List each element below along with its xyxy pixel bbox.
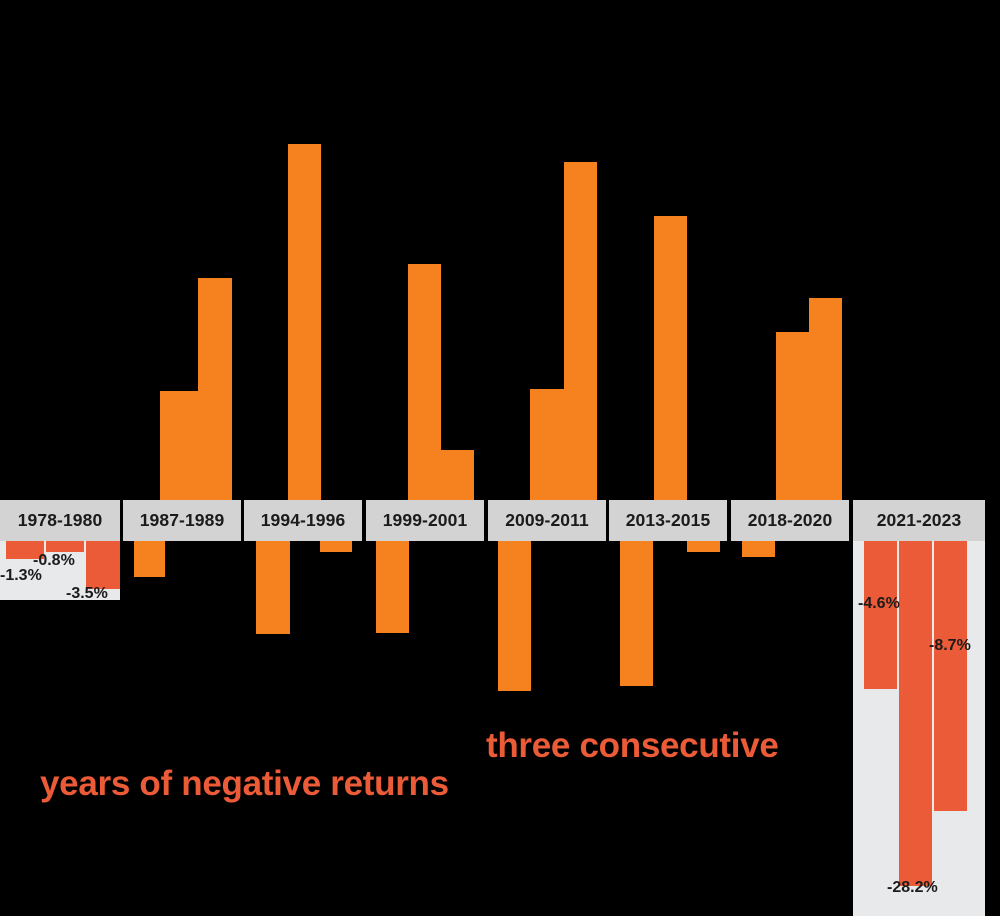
group-label-2013-2015: 2013-2015 [609, 500, 727, 541]
group-label-2021-2023: 2021-2023 [853, 500, 985, 541]
bar-2009-2011-1 [498, 541, 531, 691]
group-label-1987-1989: 1987-1989 [123, 500, 241, 541]
bar-2013-2015-1 [620, 541, 653, 686]
bar-2018-2020-1 [742, 541, 775, 557]
bar-2021-2023-3 [934, 541, 967, 811]
group-label-2018-2020: 2018-2020 [731, 500, 849, 541]
bar-1994-1996-2 [288, 144, 321, 541]
group-label-text: 1994-1996 [261, 510, 346, 531]
bar-2009-2011-3 [564, 162, 597, 541]
group-label-text: 2021-2023 [877, 510, 962, 531]
group-label-text: 2009-2011 [505, 510, 589, 531]
group-label-text: 1978-1980 [18, 510, 103, 531]
value-label-2021-2023-2: -28.2% [887, 879, 938, 897]
value-label-1978-1980-3: -3.5% [66, 585, 108, 603]
bar-2013-2015-2 [654, 216, 687, 541]
bar-1994-1996-3 [320, 541, 352, 552]
group-label-text: 1999-2001 [383, 510, 468, 531]
chart-canvas: 1978-19801987-19891994-19961999-20012009… [0, 0, 1000, 916]
group-label-text: 2018-2020 [748, 510, 833, 531]
group-label-1999-2001: 1999-2001 [366, 500, 484, 541]
bar-2021-2023-1 [864, 541, 897, 689]
annotation-line2: years of negative returns [40, 764, 449, 804]
group-label-1978-1980: 1978-1980 [0, 500, 120, 541]
bar-1999-2001-1 [376, 541, 409, 633]
bar-2013-2015-3 [687, 541, 720, 552]
annotation-line1: three consecutive [486, 726, 779, 766]
group-label-text: 2013-2015 [626, 510, 711, 531]
bar-1978-1980-3 [86, 541, 120, 589]
group-label-2009-2011: 2009-2011 [488, 500, 606, 541]
value-label-1978-1980-2: -0.8% [33, 552, 75, 570]
bar-1994-1996-1 [256, 541, 290, 634]
value-label-2021-2023-3: -8.7% [929, 637, 971, 655]
bar-1978-1980-2 [46, 541, 84, 552]
value-label-2021-2023-1: -4.6% [858, 595, 900, 613]
bar-1987-1989-1 [134, 541, 165, 577]
group-label-1994-1996: 1994-1996 [244, 500, 362, 541]
group-label-text: 1987-1989 [140, 510, 225, 531]
bar-2021-2023-2 [899, 541, 932, 886]
